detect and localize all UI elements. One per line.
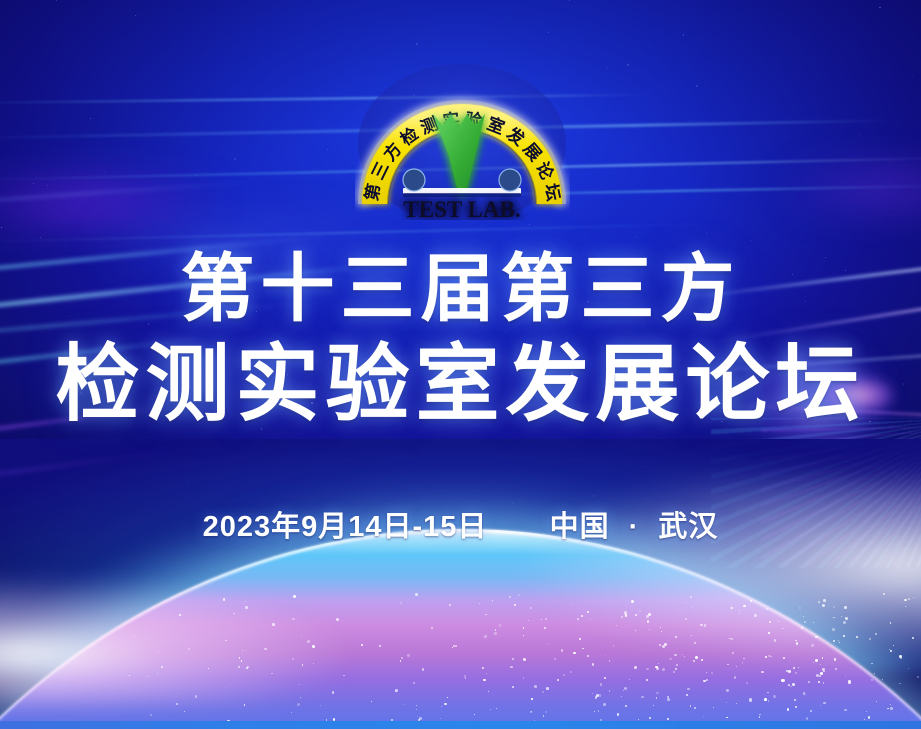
earth-sparkles bbox=[0, 439, 921, 729]
event-date: 2023年9月14日-15日 bbox=[203, 511, 488, 543]
logo-wordmark: TEST LAB. bbox=[403, 197, 520, 220]
headline-block: 第十三届第三方 检测实验室发展论坛 bbox=[0, 248, 921, 431]
test-lab-forum-logo: 第 三 方 检 测 实 验 室 发 展 论 坛 TEST LAB. bbox=[355, 52, 570, 220]
headline-line-2: 检测实验室发展论坛 bbox=[0, 337, 921, 431]
event-poster: 第 三 方 检 测 实 验 室 发 展 论 坛 TEST LAB. 第十三届第三… bbox=[0, 0, 921, 729]
headline-line-1: 第十三届第三方 bbox=[0, 248, 921, 331]
bottom-bar bbox=[0, 721, 921, 729]
subtitle-separator: · bbox=[619, 511, 650, 544]
subtitle-block: 2023年9月14日-15日 中国 · 武汉 bbox=[0, 503, 921, 545]
event-city: 武汉 bbox=[658, 511, 718, 543]
event-country: 中国 bbox=[550, 511, 610, 543]
earth-horizon bbox=[0, 439, 921, 729]
